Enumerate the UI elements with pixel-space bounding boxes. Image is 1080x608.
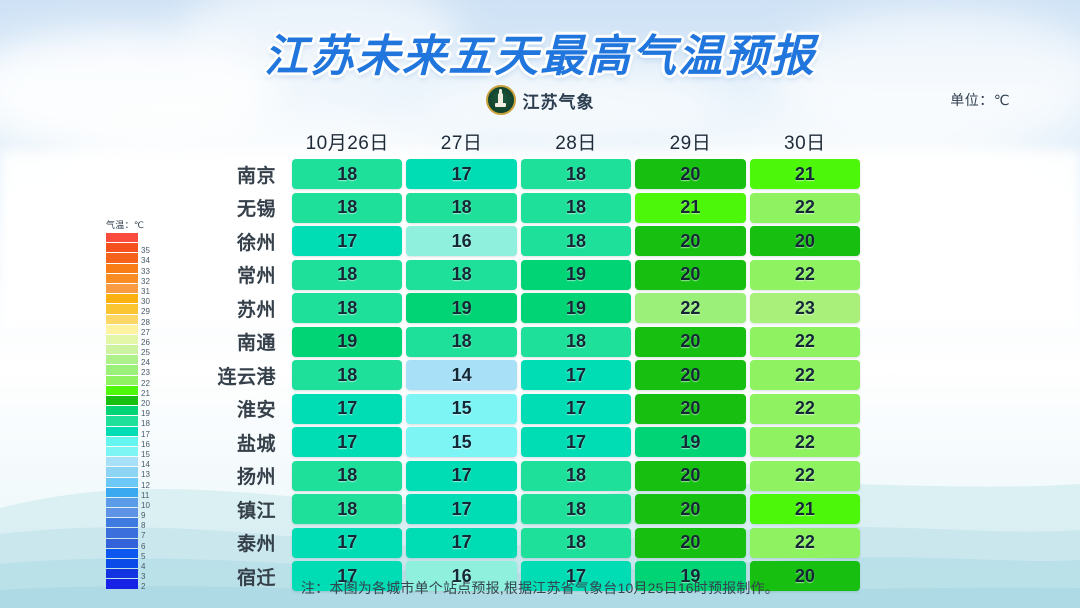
temperature-cell: 19	[635, 427, 745, 457]
temperature-cell-wrap: 20	[633, 461, 747, 491]
colorbar-stop: 15	[106, 447, 138, 457]
colorbar-tick-label: 20	[141, 400, 150, 408]
colorbar-tick-label: 4	[141, 563, 145, 571]
colorbar-swatch	[106, 539, 138, 548]
colorbar-swatch	[106, 274, 138, 283]
temperature-cell-wrap: 18	[519, 461, 633, 491]
temperature-cell: 17	[521, 394, 631, 424]
colorbar-stop: 16	[106, 437, 138, 447]
temperature-cell-wrap: 19	[519, 293, 633, 323]
colorbar-swatch	[106, 406, 138, 415]
temperature-cell: 20	[635, 226, 745, 256]
temperature-cell: 18	[406, 193, 516, 223]
colorbar-stop: 5	[106, 549, 138, 559]
colorbar-stop: 11	[106, 488, 138, 498]
table-row: 淮安1715172022	[190, 393, 862, 425]
temperature-cell-wrap: 22	[748, 260, 862, 290]
city-label: 苏州	[190, 295, 290, 322]
temperature-cell: 18	[292, 293, 402, 323]
colorbar-swatch	[106, 376, 138, 385]
temperature-cell-wrap: 20	[748, 226, 862, 256]
colorbar-stop: 21	[106, 386, 138, 396]
temperature-cell-wrap: 21	[633, 193, 747, 223]
temperature-cell-wrap: 20	[633, 494, 747, 524]
colorbar-tick-label: 5	[141, 553, 145, 561]
colorbar-stop: 18	[106, 416, 138, 426]
temperature-cell: 20	[635, 494, 745, 524]
temperature-cell-wrap: 19	[633, 427, 747, 457]
colorbar-tick-label: 18	[141, 420, 150, 428]
temperature-cell: 18	[521, 193, 631, 223]
temperature-cell: 22	[750, 360, 860, 390]
temperature-cell-wrap: 21	[748, 159, 862, 189]
temperature-cell: 17	[292, 226, 402, 256]
temperature-cell-wrap: 17	[519, 394, 633, 424]
temperature-cell: 15	[406, 394, 516, 424]
forecast-table: 10月26日 27日 28日 29日 30日 南京1817182021无锡181…	[190, 125, 862, 594]
temperature-cell-wrap: 18	[404, 327, 518, 357]
city-label: 淮安	[190, 395, 290, 422]
colorbar-stop: 32	[106, 274, 138, 284]
colorbar-stop: 33	[106, 264, 138, 274]
temperature-cell-wrap: 20	[633, 226, 747, 256]
temperature-cell-wrap: 22	[633, 293, 747, 323]
colorbar-stop: 10	[106, 498, 138, 508]
table-row: 常州1818192022	[190, 259, 862, 291]
colorbar-tick-label: 25	[141, 349, 150, 357]
colorbar-swatch	[106, 264, 138, 273]
temperature-cell: 22	[750, 461, 860, 491]
city-label: 南京	[190, 161, 290, 188]
weather-bureau-emblem-icon	[486, 85, 516, 115]
city-label: 无锡	[190, 194, 290, 221]
colorbar-tick-label: 24	[141, 359, 150, 367]
temperature-cell-wrap: 20	[633, 394, 747, 424]
temperature-cell: 22	[750, 327, 860, 357]
city-label: 常州	[190, 261, 290, 288]
city-label: 镇江	[190, 496, 290, 523]
column-header: 30日	[748, 128, 862, 155]
table-row: 南通1918182022	[190, 326, 862, 358]
temperature-cell: 18	[292, 360, 402, 390]
temperature-cell: 19	[406, 293, 516, 323]
city-label: 连云港	[190, 362, 290, 389]
temperature-cell-wrap: 21	[748, 494, 862, 524]
colorbar-stop: 25	[106, 345, 138, 355]
colorbar-swatch	[106, 416, 138, 425]
colorbar-stop: 26	[106, 335, 138, 345]
temperature-cell: 20	[635, 461, 745, 491]
temperature-cell-wrap: 22	[748, 394, 862, 424]
colorbar-stop: 14	[106, 457, 138, 467]
temperature-cell: 18	[521, 159, 631, 189]
colorbar-stop: 19	[106, 406, 138, 416]
temperature-cell: 18	[292, 461, 402, 491]
temperature-cell: 20	[635, 159, 745, 189]
temperature-cell: 20	[635, 360, 745, 390]
footnote: 注：本图为各城市单个站点预报,根据江苏省气象台10月25日16时预报制作。	[0, 578, 1080, 598]
temperature-cell: 21	[750, 494, 860, 524]
colorbar-swatch	[106, 447, 138, 456]
colorbar-tick-label: 27	[141, 329, 150, 337]
temperature-cell: 18	[521, 494, 631, 524]
colorbar-tick-label: 23	[141, 369, 150, 377]
temperature-cell-wrap: 17	[290, 394, 404, 424]
colorbar-swatch	[106, 233, 138, 242]
colorbar-tick-label: 14	[141, 461, 150, 469]
temperature-cell-wrap: 18	[290, 193, 404, 223]
temperature-cell-wrap: 19	[519, 260, 633, 290]
temperature-cell-wrap: 20	[633, 327, 747, 357]
colorbar-tick-label: 33	[141, 268, 150, 276]
table-row: 苏州1819192223	[190, 292, 862, 324]
temperature-cell: 18	[521, 327, 631, 357]
colorbar-stop: 8	[106, 518, 138, 528]
temperature-cell-wrap: 17	[290, 226, 404, 256]
temperature-cell: 18	[292, 159, 402, 189]
temperature-cell: 21	[750, 159, 860, 189]
colorbar-stop: 27	[106, 325, 138, 335]
temperature-cell-wrap: 17	[519, 427, 633, 457]
colorbar-stop: 31	[106, 284, 138, 294]
column-header: 28日	[519, 128, 633, 155]
temperature-cell-wrap: 18	[519, 193, 633, 223]
colorbar-tick-label: 31	[141, 288, 150, 296]
colorbar-stop: 12	[106, 478, 138, 488]
colorbar-stop: 24	[106, 355, 138, 365]
temperature-cell: 19	[521, 260, 631, 290]
temperature-cell-wrap: 22	[748, 360, 862, 390]
temperature-cell: 20	[635, 327, 745, 357]
colorbar-tick-label: 26	[141, 339, 150, 347]
colorbar-swatch	[106, 396, 138, 405]
temperature-cell-wrap: 18	[290, 293, 404, 323]
temperature-cell: 22	[750, 528, 860, 558]
colorbar-swatch	[106, 386, 138, 395]
temperature-cell: 18	[406, 260, 516, 290]
colorbar-stop	[106, 233, 138, 243]
temperature-cell-wrap: 17	[519, 360, 633, 390]
temperature-cell: 22	[750, 193, 860, 223]
temperature-cell-wrap: 18	[519, 226, 633, 256]
colorbar-swatch	[106, 559, 138, 568]
temperature-cell-wrap: 17	[404, 461, 518, 491]
temperature-colorbar: 气温：℃ 35343332313029282726252423222120191…	[106, 218, 166, 590]
temperature-cell: 14	[406, 360, 516, 390]
colorbar-tick-label: 8	[141, 522, 145, 530]
temperature-cell-wrap: 20	[633, 360, 747, 390]
temperature-cell-wrap: 20	[633, 528, 747, 558]
temperature-cell: 20	[635, 528, 745, 558]
column-header: 29日	[633, 128, 747, 155]
temperature-cell-wrap: 18	[519, 494, 633, 524]
table-row: 盐城1715171922	[190, 426, 862, 458]
table-row: 镇江1817182021	[190, 493, 862, 525]
colorbar-swatch	[106, 345, 138, 354]
colorbar-swatch	[106, 508, 138, 517]
temperature-cell-wrap: 20	[633, 159, 747, 189]
temperature-cell-wrap: 18	[290, 360, 404, 390]
colorbar-swatch	[106, 325, 138, 334]
colorbar-tick-label: 13	[141, 471, 150, 479]
colorbar-swatch	[106, 253, 138, 262]
table-row: 无锡1818182122	[190, 192, 862, 224]
temperature-cell-wrap: 18	[404, 193, 518, 223]
colorbar-tick-label: 6	[141, 543, 145, 551]
temperature-cell-wrap: 18	[519, 159, 633, 189]
colorbar-swatch	[106, 335, 138, 344]
colorbar-tick-label: 29	[141, 308, 150, 316]
colorbar-stop: 9	[106, 508, 138, 518]
temperature-cell-wrap: 18	[290, 260, 404, 290]
temperature-cell-wrap: 15	[404, 394, 518, 424]
temperature-cell-wrap: 18	[290, 494, 404, 524]
column-header: 27日	[404, 128, 518, 155]
temperature-cell: 17	[521, 427, 631, 457]
temperature-cell-wrap: 17	[290, 427, 404, 457]
temperature-cell: 17	[406, 494, 516, 524]
temperature-cell: 21	[635, 193, 745, 223]
colorbar-stop: 17	[106, 427, 138, 437]
table-row: 扬州1817182022	[190, 460, 862, 492]
colorbar-swatch	[106, 488, 138, 497]
temperature-cell-wrap: 22	[748, 427, 862, 457]
temperature-cell: 18	[292, 193, 402, 223]
colorbar-stop: 20	[106, 396, 138, 406]
table-row: 连云港1814172022	[190, 359, 862, 391]
colorbar-swatch	[106, 355, 138, 364]
temperature-cell: 17	[292, 394, 402, 424]
temperature-cell: 18	[521, 528, 631, 558]
colorbar-stop: 35	[106, 243, 138, 253]
colorbar-tick-label: 17	[141, 431, 150, 439]
colorbar-stop: 6	[106, 539, 138, 549]
city-label: 扬州	[190, 462, 290, 489]
city-label: 盐城	[190, 429, 290, 456]
colorbar-tick-label: 35	[141, 247, 150, 255]
temperature-cell-wrap: 16	[404, 226, 518, 256]
colorbar-swatch	[106, 528, 138, 537]
temperature-cell-wrap: 18	[404, 260, 518, 290]
city-label: 泰州	[190, 529, 290, 556]
temperature-cell-wrap: 18	[519, 327, 633, 357]
temperature-cell: 18	[292, 494, 402, 524]
colorbar-tick-label: 9	[141, 512, 145, 520]
colorbar-swatch	[106, 478, 138, 487]
colorbar-swatch	[106, 549, 138, 558]
colorbar-tick-label: 32	[141, 278, 150, 286]
colorbar-tick-label: 16	[141, 441, 150, 449]
colorbar-tick-label: 28	[141, 319, 150, 327]
temperature-cell: 18	[292, 260, 402, 290]
temperature-cell: 23	[750, 293, 860, 323]
colorbar-swatch	[106, 498, 138, 507]
page-title: 江苏未来五天最高气温预报	[0, 20, 1080, 84]
temperature-cell-wrap: 17	[404, 159, 518, 189]
colorbar-scale: 3534333231302928272625242322212019181716…	[106, 233, 138, 590]
unit-label: 单位：℃	[950, 90, 1010, 110]
org-name: 江苏气象	[523, 88, 595, 113]
colorbar-tick-label: 21	[141, 390, 150, 398]
temperature-cell: 20	[635, 260, 745, 290]
colorbar-tick-label: 12	[141, 482, 150, 490]
temperature-cell: 22	[750, 427, 860, 457]
colorbar-swatch	[106, 243, 138, 252]
temperature-cell: 16	[406, 226, 516, 256]
colorbar-stop: 7	[106, 528, 138, 538]
temperature-cell: 18	[521, 226, 631, 256]
temperature-cell-wrap: 19	[290, 327, 404, 357]
table-row: 泰州1717182022	[190, 527, 862, 559]
temperature-cell-wrap: 18	[290, 159, 404, 189]
temperature-cell-wrap: 17	[404, 494, 518, 524]
temperature-cell-wrap: 18	[290, 461, 404, 491]
colorbar-title: 气温：℃	[106, 218, 166, 231]
temperature-cell: 17	[406, 461, 516, 491]
colorbar-swatch	[106, 427, 138, 436]
temperature-cell: 17	[521, 360, 631, 390]
colorbar-swatch	[106, 518, 138, 527]
colorbar-swatch	[106, 294, 138, 303]
colorbar-stop: 34	[106, 253, 138, 263]
temperature-cell: 19	[292, 327, 402, 357]
temperature-cell-wrap: 17	[404, 528, 518, 558]
colorbar-tick-label: 7	[141, 532, 145, 540]
colorbar-stop: 30	[106, 294, 138, 304]
temperature-cell: 20	[635, 394, 745, 424]
column-header: 10月26日	[290, 128, 404, 155]
temperature-cell: 17	[406, 528, 516, 558]
temperature-cell-wrap: 17	[290, 528, 404, 558]
temperature-cell-wrap: 19	[404, 293, 518, 323]
temperature-cell: 19	[521, 293, 631, 323]
colorbar-stop: 29	[106, 304, 138, 314]
temperature-cell-wrap: 14	[404, 360, 518, 390]
temperature-cell: 20	[750, 226, 860, 256]
colorbar-swatch	[106, 365, 138, 374]
colorbar-swatch	[106, 569, 138, 578]
colorbar-stop: 23	[106, 365, 138, 375]
temperature-cell-wrap: 22	[748, 327, 862, 357]
colorbar-tick-label: 30	[141, 298, 150, 306]
table-row: 南京1817182021	[190, 158, 862, 190]
temperature-cell-wrap: 22	[748, 461, 862, 491]
temperature-cell: 22	[750, 394, 860, 424]
colorbar-tick-label: 11	[141, 492, 149, 500]
city-label: 徐州	[190, 228, 290, 255]
temperature-cell-wrap: 23	[748, 293, 862, 323]
temperature-cell-wrap: 22	[748, 528, 862, 558]
table-body: 南京1817182021无锡1818182122徐州1716182020常州18…	[190, 158, 862, 592]
temperature-cell-wrap: 18	[519, 528, 633, 558]
colorbar-swatch	[106, 437, 138, 446]
colorbar-stop: 22	[106, 376, 138, 386]
temperature-cell: 22	[635, 293, 745, 323]
colorbar-stop: 4	[106, 559, 138, 569]
colorbar-stop: 13	[106, 467, 138, 477]
temperature-cell-wrap: 22	[748, 193, 862, 223]
temperature-cell-wrap: 20	[633, 260, 747, 290]
colorbar-tick-label: 22	[141, 380, 150, 388]
temperature-cell: 17	[292, 427, 402, 457]
colorbar-tick-label: 19	[141, 410, 150, 418]
org-logo: 江苏气象	[0, 82, 1080, 118]
temperature-cell: 18	[521, 461, 631, 491]
colorbar-tick-label: 10	[141, 502, 150, 510]
colorbar-swatch	[106, 304, 138, 313]
colorbar-swatch	[106, 284, 138, 293]
colorbar-swatch	[106, 467, 138, 476]
temperature-cell: 22	[750, 260, 860, 290]
temperature-cell: 18	[406, 327, 516, 357]
colorbar-swatch	[106, 457, 138, 466]
table-row: 徐州1716182020	[190, 225, 862, 257]
table-header-row: 10月26日 27日 28日 29日 30日	[190, 125, 862, 158]
colorbar-tick-label: 15	[141, 451, 150, 459]
colorbar-swatch	[106, 315, 138, 324]
temperature-cell: 17	[406, 159, 516, 189]
temperature-cell-wrap: 15	[404, 427, 518, 457]
temperature-cell: 17	[292, 528, 402, 558]
city-label: 南通	[190, 328, 290, 355]
temperature-cell: 15	[406, 427, 516, 457]
colorbar-tick-label: 34	[141, 257, 150, 265]
colorbar-stop: 28	[106, 315, 138, 325]
